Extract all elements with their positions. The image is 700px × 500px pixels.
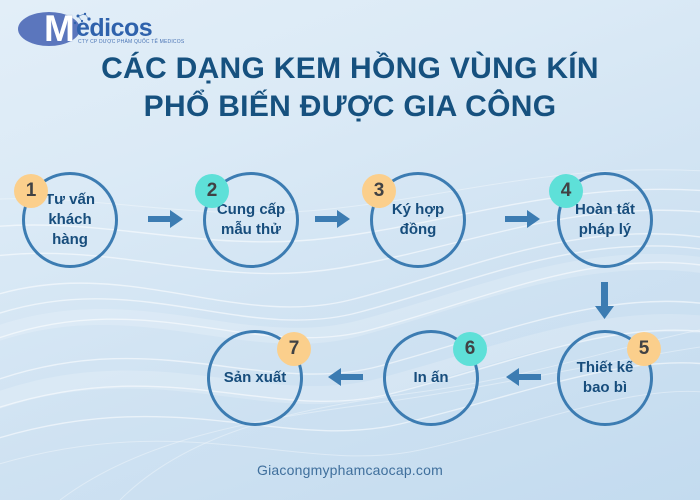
flow-step-7[interactable]: 7 Sản xuất	[207, 330, 303, 426]
page-title-line-2: PHỔ BIẾN ĐƯỢC GIA CÔNG	[0, 88, 700, 126]
step-3-badge: 3	[362, 174, 396, 208]
step-4-number: 4	[561, 180, 572, 202]
arrow-1-to-2	[148, 208, 184, 230]
step-1-badge: 1	[14, 174, 48, 208]
step-2-number: 2	[207, 180, 218, 202]
flow-step-6[interactable]: 6 In ấn	[383, 330, 479, 426]
logo-tagline: CTY CP DƯỢC PHẨM QUỐC TẾ MEDICOS	[78, 39, 184, 46]
step-6-number: 6	[465, 338, 476, 360]
arrow-2-to-3	[315, 208, 351, 230]
flow-step-4[interactable]: 4 Hoàn tất pháp lý	[557, 172, 653, 268]
arrow-3-to-4	[505, 208, 541, 230]
step-7-number: 7	[289, 338, 300, 360]
flow-step-5[interactable]: 5 Thiết kế bao bì	[557, 330, 653, 426]
footer-website[interactable]: Giacongmyphamcaocap.com	[0, 462, 700, 478]
step-7-badge: 7	[277, 332, 311, 366]
step-6-badge: 6	[453, 332, 487, 366]
step-5-number: 5	[639, 338, 650, 360]
logo-m-letter: M	[44, 10, 74, 48]
step-2-badge: 2	[195, 174, 229, 208]
step-5-badge: 5	[627, 332, 661, 366]
step-1-number: 1	[26, 180, 37, 202]
page-title-line-1: CÁC DẠNG KEM HỒNG VÙNG KÍN	[0, 50, 700, 88]
step-3-number: 3	[374, 180, 385, 202]
step-4-badge: 4	[549, 174, 583, 208]
arrow-5-to-6	[505, 366, 541, 388]
logo-dots-icon	[72, 12, 94, 28]
flow-step-3[interactable]: 3 Ký hợp đồng	[370, 172, 466, 268]
page-title: CÁC DẠNG KEM HỒNG VÙNG KÍN PHỔ BIẾN ĐƯỢC…	[0, 50, 700, 126]
flow-step-1[interactable]: 1 Tư vấn khách hàng	[22, 172, 118, 268]
arrow-6-to-7	[327, 366, 363, 388]
flow-step-2[interactable]: 2 Cung cấp mẫu thử	[203, 172, 299, 268]
infographic-canvas: M edicos CTY CP DƯỢC PHẨM QUỐC TẾ MEDICO…	[0, 0, 700, 500]
arrow-4-to-5	[594, 282, 616, 320]
brand-logo[interactable]: M edicos CTY CP DƯỢC PHẨM QUỐC TẾ MEDICO…	[14, 6, 164, 52]
